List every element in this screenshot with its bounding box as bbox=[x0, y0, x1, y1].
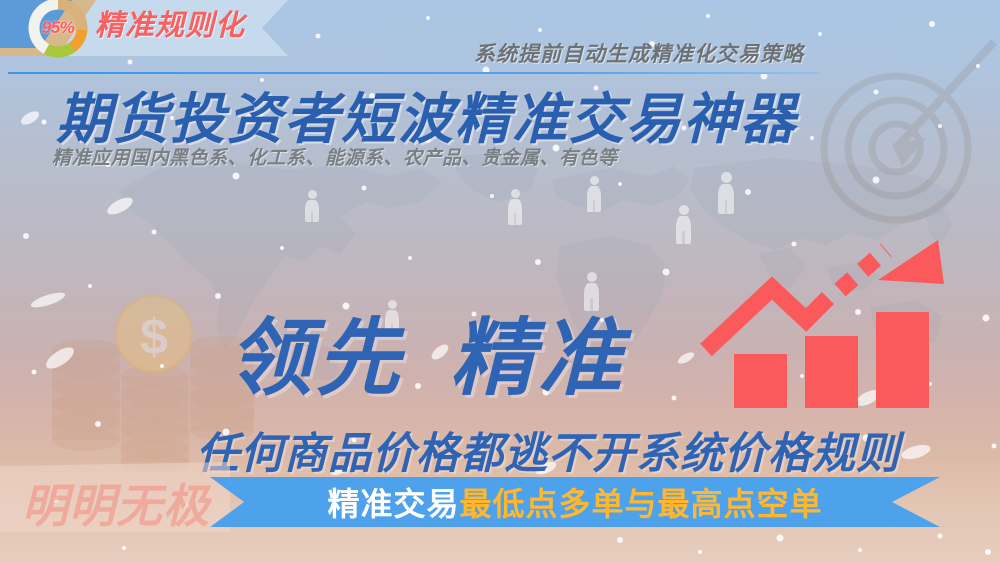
person-icon bbox=[508, 189, 522, 229]
poster-root: $ bbox=[0, 0, 1000, 563]
precision-badge: 95% 精准规则化 bbox=[0, 0, 300, 56]
chart-bar-2 bbox=[805, 336, 858, 408]
page-title: 期货投资者短波精准交易神器 bbox=[56, 74, 797, 154]
hero-headline: 领先精准 bbox=[228, 316, 626, 400]
badge-label: 精准规则化 bbox=[95, 2, 245, 44]
badge-percent-label: 95% bbox=[26, 0, 90, 60]
chart-arrow-head bbox=[878, 240, 944, 284]
chart-bar-3 bbox=[876, 312, 929, 408]
person-icon bbox=[676, 205, 691, 249]
growth-chart-graphic bbox=[700, 232, 970, 408]
header-subtitle: 系统提前自动生成精准化交易策略 bbox=[474, 38, 804, 68]
precision-donut-chart: 95% bbox=[26, 0, 90, 60]
bottom-banner-text: 精准交易最低点多单与最高点空单 bbox=[327, 479, 822, 525]
person-icon bbox=[587, 176, 601, 216]
hero-word-1: 领先 bbox=[228, 311, 404, 405]
banner-highlight-text: 最低点多单与最高点空单 bbox=[460, 486, 823, 522]
target-bullseye-icon bbox=[818, 38, 1000, 228]
chart-trend-dashes bbox=[840, 250, 886, 290]
slogan-text: 任何商品价格都逃不开系统价格规则 bbox=[196, 419, 900, 481]
person-icon bbox=[584, 272, 599, 316]
person-icon bbox=[305, 190, 319, 226]
banner-primary-text: 精准交易 bbox=[327, 486, 459, 522]
person-icon bbox=[718, 172, 734, 220]
watermark-text: 明明无极 bbox=[22, 470, 210, 536]
hero-word-2: 精准 bbox=[450, 311, 626, 405]
chart-bar-1 bbox=[734, 354, 787, 408]
bottom-banner: 精准交易最低点多单与最高点空单 bbox=[210, 477, 940, 527]
header-description: 精准应用国内黑色系、化工系、能源系、农产品、贵金属、有色等 bbox=[52, 143, 618, 170]
svg-text:$: $ bbox=[140, 309, 168, 365]
